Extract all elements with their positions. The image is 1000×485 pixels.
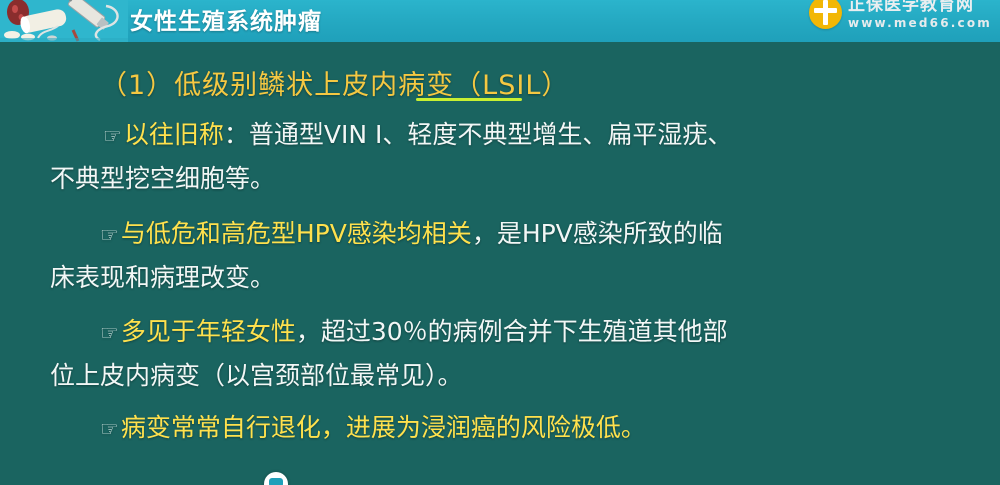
heading-underline [416,98,522,101]
pointing-hand-icon: ☞ [100,223,119,247]
bullet-line-6: 位上皮内病变（以宫颈部位最常见）。 [50,356,463,392]
bullet-line-7: ☞病变常常自行退化，进展为浸润癌的风险极低。 [100,408,646,444]
bullet-line-3: ☞与低危和高危型HPV感染均相关，是HPV感染所致的临 [100,214,723,250]
cross-shield-logo-icon [809,0,842,29]
slide-root: 女性生殖系统肿瘤 正保医学教育网 www.med66.com （1）低级别鳞状上… [0,0,1000,485]
bullet-3-highlight: 多见于年轻女性 [121,317,296,346]
medical-syringe-pills-illustration-icon [0,0,128,42]
brand-name: 正保医学教育网 [848,0,992,14]
pointing-hand-icon: ☞ [100,417,119,441]
bullet-3-cont: 位上皮内病变（以宫颈部位最常见）。 [50,361,463,390]
brand-logo: 正保医学教育网 www.med66.com [809,0,992,29]
bullet-3-rest: ，超过30％的病例合并下生殖道其他部 [296,317,728,346]
section-heading: （1）低级别鳞状上皮内病变（LSIL） [100,63,569,102]
pointing-hand-icon: ☞ [103,124,122,148]
bullet-2-highlight: 与低危和高危型HPV感染均相关 [121,219,472,248]
bullet-1-highlight: 以往旧称 [124,120,224,149]
bullet-line-5: ☞多见于年轻女性，超过30％的病例合并下生殖道其他部 [100,312,728,348]
bullet-2-rest: ，是HPV感染所致的临 [472,219,723,248]
bullet-1-rest: ：普通型VIN Ⅰ、轻度不典型增生、扁平湿疣、 [224,120,733,149]
slide-header: 女性生殖系统肿瘤 正保医学教育网 www.med66.com [0,0,1000,42]
bullet-1-cont: 不典型挖空细胞等。 [50,164,275,193]
bullet-2-cont: 床表现和病理改变。 [50,263,275,292]
bullet-line-2: 不典型挖空细胞等。 [50,159,275,195]
brand-url: www.med66.com [848,17,992,29]
bullet-4-highlight: 病变常常自行退化，进展为浸润癌的风险极低。 [121,413,646,442]
page-title: 女性生殖系统肿瘤 [130,2,322,36]
slide-body: （1）低级别鳞状上皮内病变（LSIL） ☞以往旧称：普通型VIN Ⅰ、轻度不典型… [0,42,1000,485]
pointing-hand-icon: ☞ [100,321,119,345]
bullet-line-1: ☞以往旧称：普通型VIN Ⅰ、轻度不典型增生、扁平湿疣、 [103,115,732,151]
bullet-line-4: 床表现和病理改变。 [50,258,275,294]
section-heading-text: （1）低级别鳞状上皮内病变（LSIL） [100,70,569,101]
